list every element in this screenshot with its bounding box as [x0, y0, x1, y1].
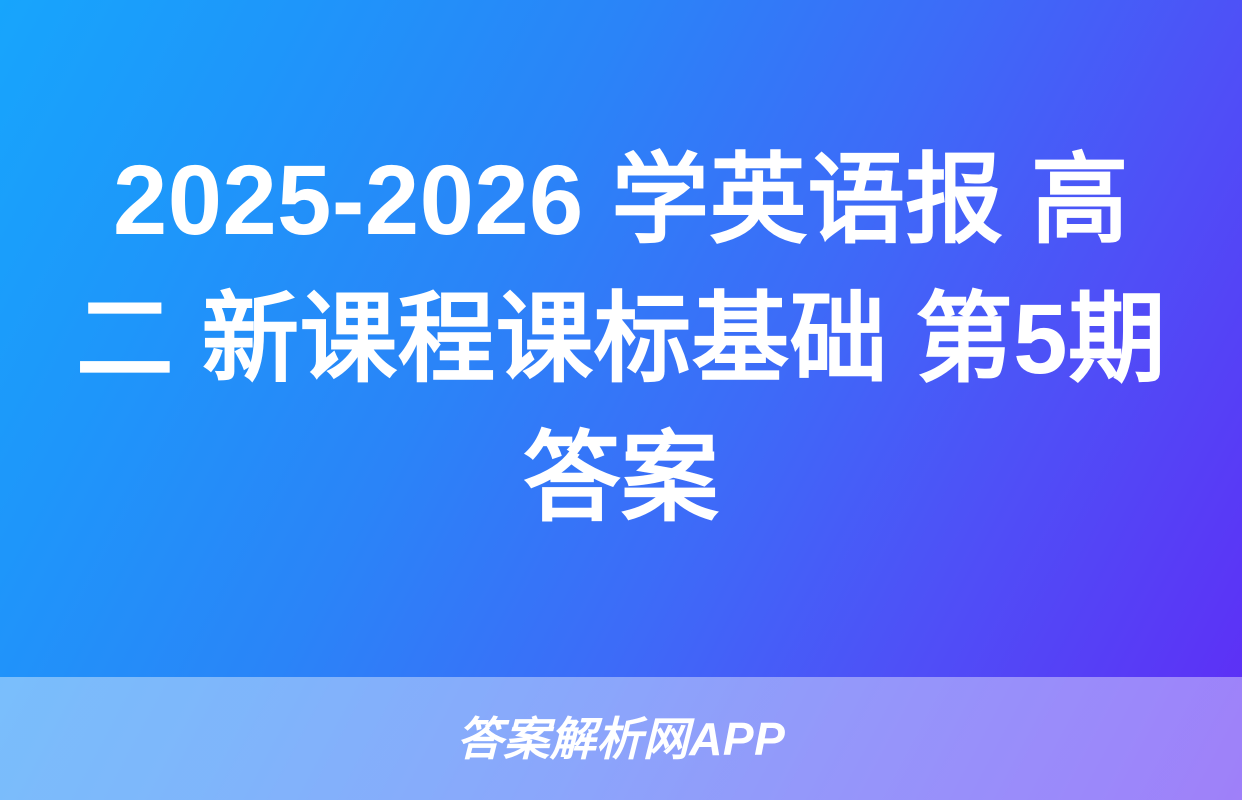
- page-title: 2025-2026 学英语报 高二 新课程课标基础 第5期答案: [68, 130, 1173, 547]
- app-watermark-band: 答案解析网APP: [0, 677, 1242, 800]
- app-brand-label: 答案解析网APP: [457, 716, 786, 762]
- headline-area: 2025-2026 学英语报 高二 新课程课标基础 第5期答案: [0, 0, 1242, 677]
- poster-canvas: 2025-2026 学英语报 高二 新课程课标基础 第5期答案 答案解析网APP: [0, 0, 1242, 800]
